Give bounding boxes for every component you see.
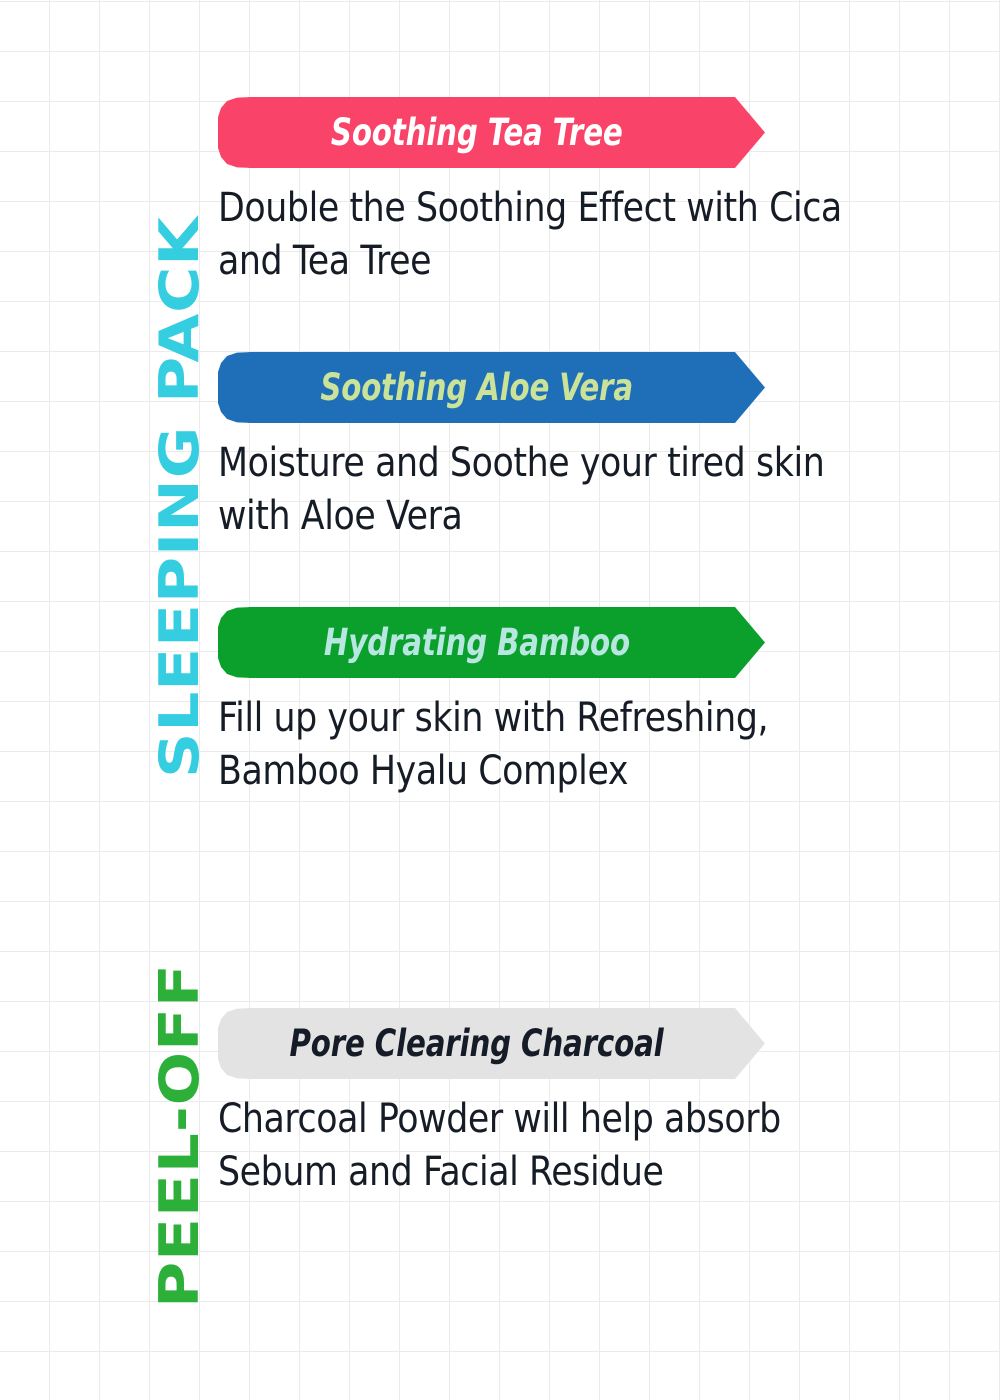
product-block-hydrating-bamboo: Hydrating Bamboo Fill up your skin with … [218, 607, 958, 798]
product-block-soothing-tea-tree: Soothing Tea Tree Double the Soothing Ef… [218, 97, 958, 288]
banner-arrow-shape: Pore Clearing Charcoal [218, 1008, 765, 1079]
product-block-soothing-aloe-vera: Soothing Aloe Vera Moisture and Soothe y… [218, 352, 958, 543]
product-description-soothing-aloe-vera: Moisture and Soothe your tired skin with… [218, 437, 862, 543]
product-block-pore-clearing-charcoal: Pore Clearing Charcoal Charcoal Powder w… [218, 1008, 958, 1199]
product-name-soothing-aloe-vera: Soothing Aloe Vera [320, 369, 633, 406]
banner-arrow-shape: Soothing Aloe Vera [218, 352, 765, 423]
product-feature-page: SLEEPING PACK Soothing Tea Tree Double t… [0, 0, 1000, 1400]
product-name-pore-clearing-charcoal: Pore Clearing Charcoal [289, 1025, 663, 1062]
banner-arrow-shape: Hydrating Bamboo [218, 607, 765, 678]
banner-arrow-shape: Soothing Tea Tree [218, 97, 765, 168]
section-label-peel-off: PEEL-OFF [152, 963, 207, 1308]
section-label-sleeping-pack: SLEEPING PACK [152, 216, 207, 778]
product-description-pore-clearing-charcoal: Charcoal Powder will help absorb Sebum a… [218, 1093, 862, 1199]
banner-hydrating-bamboo: Hydrating Bamboo [218, 607, 765, 678]
banner-pore-clearing-charcoal: Pore Clearing Charcoal [218, 1008, 765, 1079]
product-name-soothing-tea-tree: Soothing Tea Tree [331, 114, 623, 151]
product-name-hydrating-bamboo: Hydrating Bamboo [323, 624, 629, 661]
banner-soothing-tea-tree: Soothing Tea Tree [218, 97, 765, 168]
product-description-hydrating-bamboo: Fill up your skin with Refreshing, Bambo… [218, 692, 862, 798]
product-description-soothing-tea-tree: Double the Soothing Effect with Cica and… [218, 182, 862, 288]
banner-soothing-aloe-vera: Soothing Aloe Vera [218, 352, 765, 423]
